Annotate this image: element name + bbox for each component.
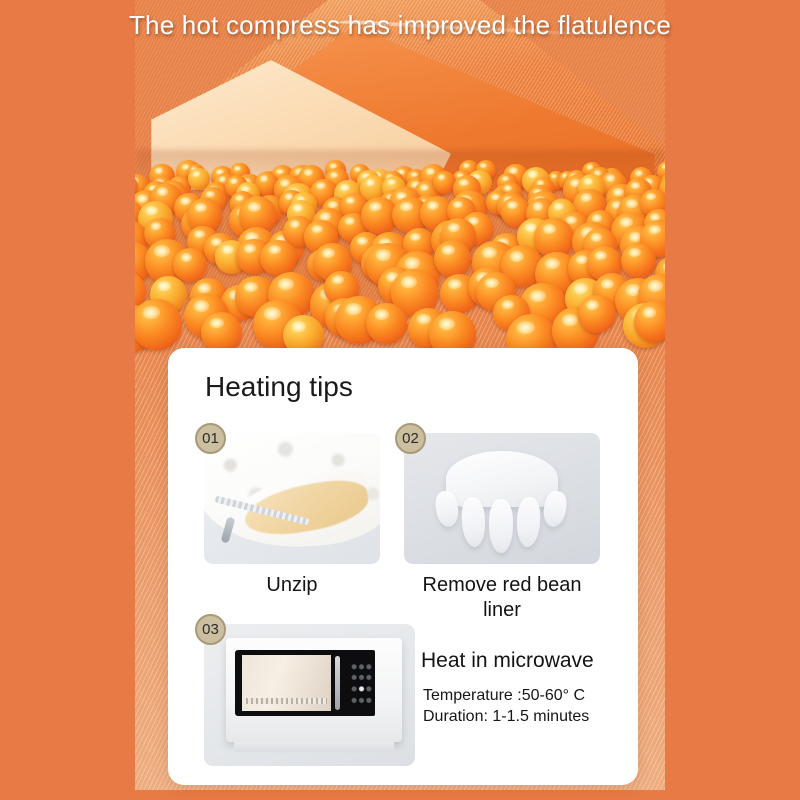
step-03-caption: Heat in microwave [421, 648, 594, 674]
bead [434, 240, 471, 277]
bead [135, 299, 182, 350]
step-02-badge: 02 [395, 423, 426, 454]
step-01-badge: 01 [195, 423, 226, 454]
microwave-rack [246, 698, 327, 704]
bead [621, 243, 656, 278]
liner-finger [516, 496, 542, 547]
heating-tips-card: Heating tips 01 Unzip 02 Remove red bean… [168, 348, 638, 785]
card-title: Heating tips [205, 370, 353, 404]
page-title: The hot compress has improved the flatul… [0, 8, 800, 42]
step-02-image [404, 433, 600, 564]
microwave-keypad-icon [350, 662, 373, 710]
microwave-handle [335, 656, 340, 710]
liner-finger [489, 499, 513, 553]
bead [433, 171, 456, 194]
step-02-caption: Remove red bean liner [404, 573, 600, 623]
microwave-base [234, 742, 394, 752]
bead [201, 312, 242, 353]
step-01-image [204, 433, 380, 564]
bead [366, 303, 407, 344]
step-03-duration: Duration: 1-1.5 minutes [423, 706, 589, 727]
bead-filling-icon [135, 160, 665, 340]
bead [173, 248, 207, 282]
step-01-caption: Unzip [204, 573, 380, 598]
bead [578, 295, 616, 333]
step-03-badge: 03 [195, 614, 226, 645]
step-03-temperature: Temperature :50-60° C [423, 685, 585, 706]
step-03-image [204, 624, 415, 766]
bead [260, 240, 297, 277]
product-poster: The hot compress has improved the flatul… [0, 0, 800, 800]
